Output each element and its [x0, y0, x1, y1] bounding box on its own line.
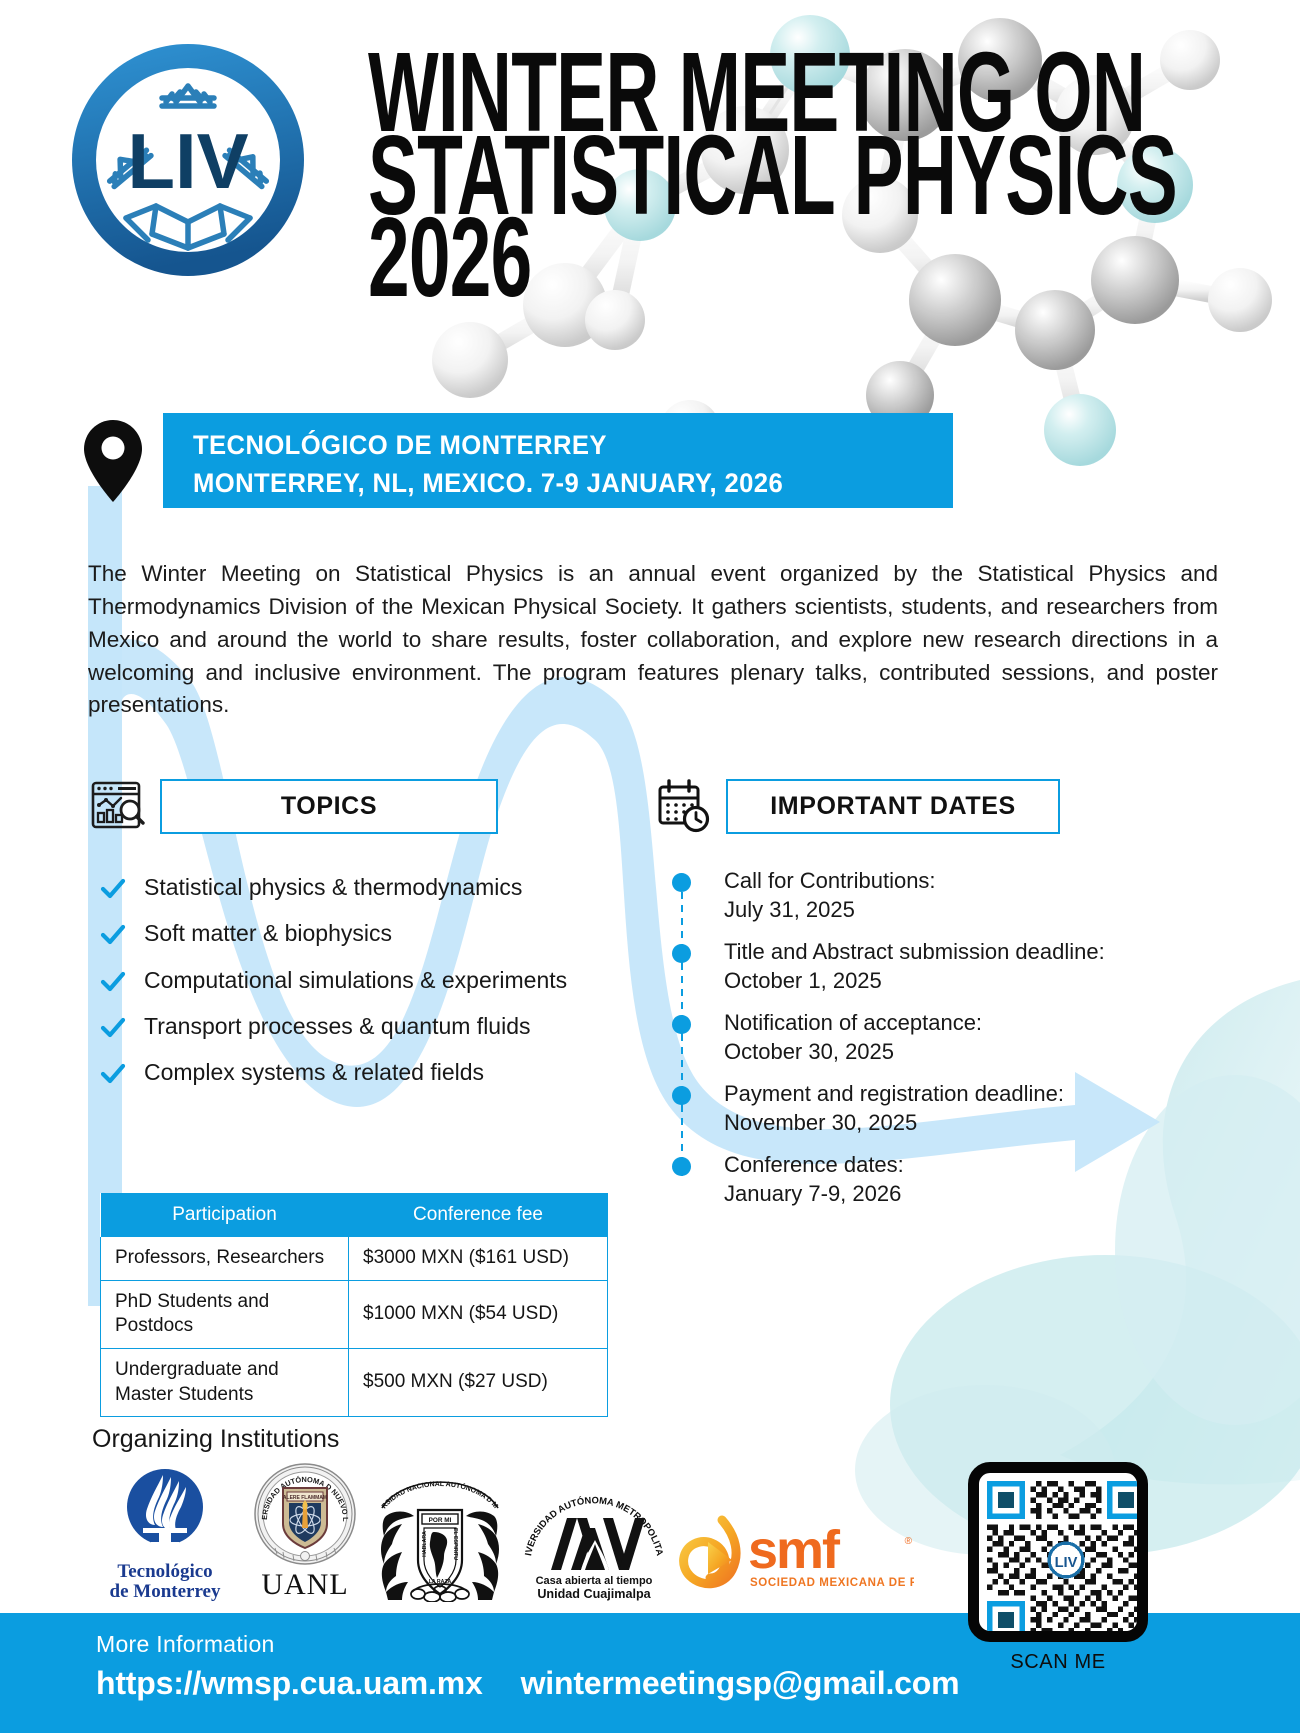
list-item: Transport processes & quantum fluids [100, 1011, 600, 1041]
svg-text:HABLARA: HABLARA [422, 1531, 428, 1557]
timeline-dot-icon [672, 873, 691, 892]
list-item: Soft matter & biophysics [100, 918, 600, 948]
check-icon [100, 1061, 126, 1087]
table-row: PhD Students and Postdocs $1000 MXN ($54… [101, 1280, 608, 1348]
map-pin-icon [82, 418, 144, 504]
svg-text:®: ® [905, 1536, 913, 1547]
smf-subtitle: SOCIEDAD MEXICANA DE FÍSICA [750, 1576, 914, 1589]
email-link[interactable]: wintermeetingsp@gmail.com [521, 1665, 960, 1702]
topics-list: Statistical physics & thermodynamics Sof… [100, 872, 600, 1104]
check-icon [100, 1015, 126, 1041]
website-link[interactable]: https://wmsp.cua.uam.mx [96, 1665, 483, 1702]
timeline-dot-icon [672, 1157, 691, 1176]
check-icon [100, 922, 126, 948]
cell-fee: $3000 MXN ($161 USD) [349, 1237, 608, 1280]
poster-header: LIV WINTER MEETING ON STATISTICAL PHYSIC… [0, 0, 1300, 370]
date-value: October 1, 2025 [724, 966, 1142, 995]
important-dates-heading: IMPORTANT DATES [726, 779, 1060, 834]
cell-participation: Undergraduate and Master Students [101, 1349, 349, 1417]
list-item: Call for Contributions: July 31, 2025 [672, 866, 1142, 925]
important-dates-timeline: Call for Contributions: July 31, 2025 Ti… [672, 866, 1142, 1221]
uam-subtitle-1: Casa abierta al tiempo [536, 1575, 653, 1587]
list-item: Computational simulations & experiments [100, 965, 600, 995]
uanl-logo: UNIVERSIDAD AUTÓNOMA D NUEVO LEÓN ALERE … [240, 1462, 370, 1602]
cell-fee: $500 MXN ($27 USD) [349, 1349, 608, 1417]
event-description: The Winter Meeting on Statistical Physic… [88, 558, 1218, 722]
table-row: Undergraduate and Master Students $500 M… [101, 1349, 608, 1417]
list-item: Complex systems & related fields [100, 1057, 600, 1087]
tec-de-monterrey-logo: Tecnológico de Monterrey [90, 1463, 240, 1602]
topic-label: Transport processes & quantum fluids [144, 1011, 531, 1041]
uam-subtitle-2: Unidad Cuajimalpa [537, 1587, 651, 1601]
check-icon [100, 969, 126, 995]
more-information-label: More Information [96, 1631, 275, 1658]
table-header-row: Participation Conference fee [101, 1193, 608, 1237]
calendar-clock-icon [656, 778, 712, 834]
column-header-participation: Participation [101, 1193, 349, 1237]
date-value: January 7-9, 2026 [724, 1179, 1142, 1208]
cell-fee: $1000 MXN ($54 USD) [349, 1280, 608, 1348]
topic-label: Statistical physics & thermodynamics [144, 872, 522, 902]
topic-label: Complex systems & related fields [144, 1057, 484, 1087]
topics-heading: TOPICS [160, 779, 498, 834]
topic-label: Soft matter & biophysics [144, 918, 392, 948]
date-value: November 30, 2025 [724, 1108, 1142, 1137]
timeline-dot-icon [672, 1015, 691, 1034]
venue-name: TECNOLÓGICO DE MONTERREY [193, 426, 915, 464]
check-icon [100, 876, 126, 902]
table-row: Professors, Researchers $3000 MXN ($161 … [101, 1237, 608, 1280]
date-label: Call for Contributions: [724, 866, 1142, 895]
svg-text:POR MI: POR MI [429, 1517, 452, 1524]
list-item: Notification of acceptance: October 30, … [672, 1008, 1142, 1067]
tec-logo-line1: Tecnológico [117, 1561, 212, 1582]
important-dates-section-header: IMPORTANT DATES [656, 778, 1060, 834]
cell-participation: PhD Students and Postdocs [101, 1280, 349, 1348]
uanl-label: UANL [261, 1568, 348, 1602]
column-header-fee: Conference fee [349, 1193, 608, 1237]
liv-conference-logo: LIV [68, 40, 308, 280]
list-item: Conference dates: January 7-9, 2026 [672, 1150, 1142, 1209]
scan-me-caption: SCAN ME [968, 1651, 1148, 1674]
poster-title: WINTER MEETING ON STATISTICAL PHYSICS 20… [368, 45, 1168, 293]
logo-text: LIV [127, 117, 248, 205]
list-item: Statistical physics & thermodynamics [100, 872, 600, 902]
conference-fee-table: Participation Conference fee Professors,… [100, 1193, 608, 1417]
title-line-3: 2026 [368, 210, 992, 307]
date-label: Title and Abstract submission deadline: [724, 937, 1142, 966]
qr-code-block[interactable]: LIV SCAN ME [968, 1462, 1148, 1674]
date-label: Payment and registration deadline: [724, 1079, 1142, 1108]
topics-section-header: TOPICS [90, 778, 498, 834]
location-banner: TECNOLÓGICO DE MONTERREY MONTERREY, NL, … [163, 413, 953, 508]
date-label: Notification of acceptance: [724, 1008, 1142, 1037]
footer-contact-links: https://wmsp.cua.uam.mx wintermeetingsp@… [96, 1665, 959, 1702]
smf-logo: smf ® SOCIEDAD MEXICANA DE FÍSICA [678, 1510, 918, 1602]
smf-wordmark: smf [748, 1520, 841, 1580]
organizing-institutions-logos: Tecnológico de Monterrey UNIVERSIDAD AUT… [90, 1462, 970, 1602]
qr-code-image[interactable]: LIV [968, 1462, 1148, 1642]
topic-label: Computational simulations & experiments [144, 965, 567, 995]
uam-cuajimalpa-logo: UNIVERSIDAD AUTÓNOMA METROPOLITANA Casa … [510, 1482, 678, 1602]
svg-text:EL ESPIRITU: EL ESPIRITU [452, 1528, 458, 1560]
date-label: Conference dates: [724, 1150, 1142, 1179]
cell-participation: Professors, Researchers [101, 1237, 349, 1280]
list-item: Title and Abstract submission deadline: … [672, 937, 1142, 996]
timeline-dot-icon [672, 1086, 691, 1105]
organizing-institutions-title: Organizing Institutions [92, 1425, 339, 1454]
analytics-dashboard-icon [90, 778, 146, 834]
date-value: October 30, 2025 [724, 1037, 1142, 1066]
tec-logo-line2: de Monterrey [110, 1581, 221, 1602]
venue-city-dates: MONTERREY, NL, MEXICO. 7-9 JANUARY, 2026 [193, 464, 915, 502]
list-item: Payment and registration deadline: Novem… [672, 1079, 1142, 1138]
date-value: July 31, 2025 [724, 895, 1142, 924]
timeline-dot-icon [672, 944, 691, 963]
unam-logo: UNIVERSIDAD NACIONAL AUTÓNOMA D MÉXICO P… [370, 1474, 510, 1602]
qr-center-label: LIV [1055, 1555, 1078, 1571]
